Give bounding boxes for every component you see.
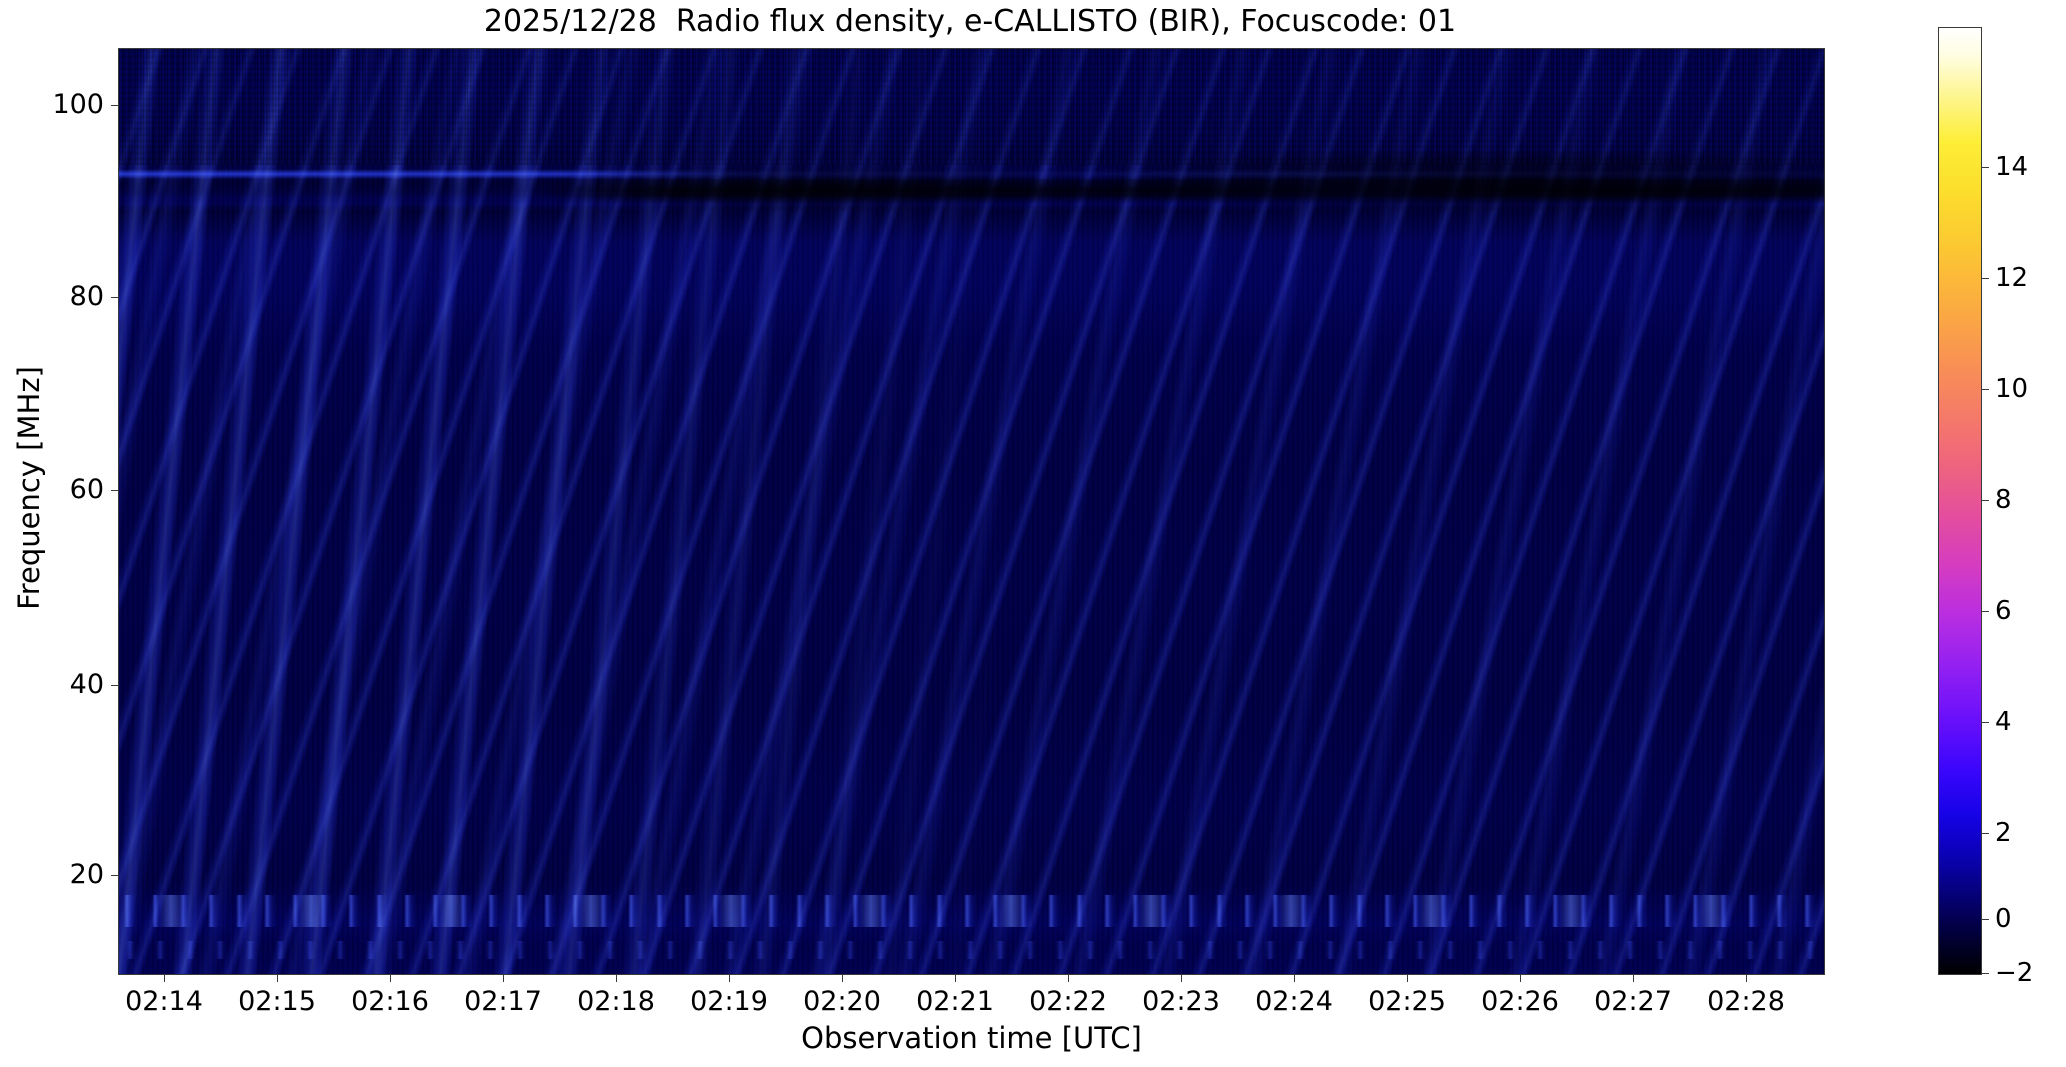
colorbar-tick-label: 14 bbox=[1995, 154, 2065, 180]
x-tick-mark bbox=[1294, 975, 1295, 982]
x-tick-mark bbox=[1520, 975, 1521, 982]
x-axis-label: Observation time [UTC] bbox=[118, 1021, 1825, 1055]
x-tick-mark bbox=[164, 975, 165, 982]
spectrogram-speckle-band-12mhz bbox=[119, 941, 1824, 960]
page-title: 2025/12/28 Radio flux density, e-CALLIST… bbox=[0, 2, 1940, 42]
colorbar-tick-mark bbox=[1982, 500, 1989, 501]
colorbar-tick-mark bbox=[1982, 722, 1989, 723]
y-tick-mark bbox=[111, 875, 118, 876]
colorbar: 14121086420−2 bbox=[1938, 27, 1982, 975]
spectrogram-top-noise-region bbox=[119, 49, 1824, 165]
colorbar-tick-label: −2 bbox=[1995, 960, 2065, 986]
spectrogram-dark-patch-right bbox=[1108, 151, 1824, 211]
x-tick-mark bbox=[1407, 975, 1408, 982]
spectrogram-speckle-band-15mhz bbox=[119, 895, 1824, 926]
colorbar-tick-label: 8 bbox=[1995, 487, 2065, 513]
colorbar-tick-mark bbox=[1982, 389, 1989, 390]
x-tick-mark bbox=[955, 975, 956, 982]
x-tick-mark bbox=[616, 975, 617, 982]
spectrogram-figure: 2025/12/28 Radio flux density, e-CALLIST… bbox=[0, 0, 2066, 1067]
y-axis-label: Frequency [MHz] bbox=[13, 23, 45, 953]
x-tick-label: 02:28 bbox=[1666, 986, 1826, 1018]
x-tick-mark bbox=[390, 975, 391, 982]
spectrogram-dark-patch-mid bbox=[596, 165, 1039, 211]
colorbar-tick-mark bbox=[1982, 611, 1989, 612]
x-tick-mark bbox=[1633, 975, 1634, 982]
y-tick-mark bbox=[111, 105, 118, 106]
colorbar-tick-label: 4 bbox=[1995, 709, 2065, 735]
colorbar-tick-label: 2 bbox=[1995, 820, 2065, 846]
colorbar-tick-label: 10 bbox=[1995, 376, 2065, 402]
x-tick-mark bbox=[842, 975, 843, 982]
colorbar-gradient bbox=[1938, 27, 1982, 975]
colorbar-tick-label: 12 bbox=[1995, 265, 2065, 291]
y-tick-mark bbox=[111, 297, 118, 298]
colorbar-tick-mark bbox=[1982, 167, 1989, 168]
y-tick-mark bbox=[111, 685, 118, 686]
x-tick-mark bbox=[1746, 975, 1747, 982]
colorbar-tick-label: 0 bbox=[1995, 906, 2065, 932]
colorbar-tick-mark bbox=[1982, 973, 1989, 974]
colorbar-tick-mark bbox=[1982, 919, 1989, 920]
x-tick-mark bbox=[1181, 975, 1182, 982]
y-tick-mark bbox=[111, 490, 118, 491]
x-tick-mark bbox=[277, 975, 278, 982]
spectrogram-plot-area bbox=[118, 48, 1825, 975]
x-tick-mark bbox=[503, 975, 504, 982]
x-tick-mark bbox=[1068, 975, 1069, 982]
colorbar-tick-mark bbox=[1982, 833, 1989, 834]
colorbar-tick-mark bbox=[1982, 278, 1989, 279]
x-tick-mark bbox=[729, 975, 730, 982]
colorbar-tick-label: 6 bbox=[1995, 598, 2065, 624]
